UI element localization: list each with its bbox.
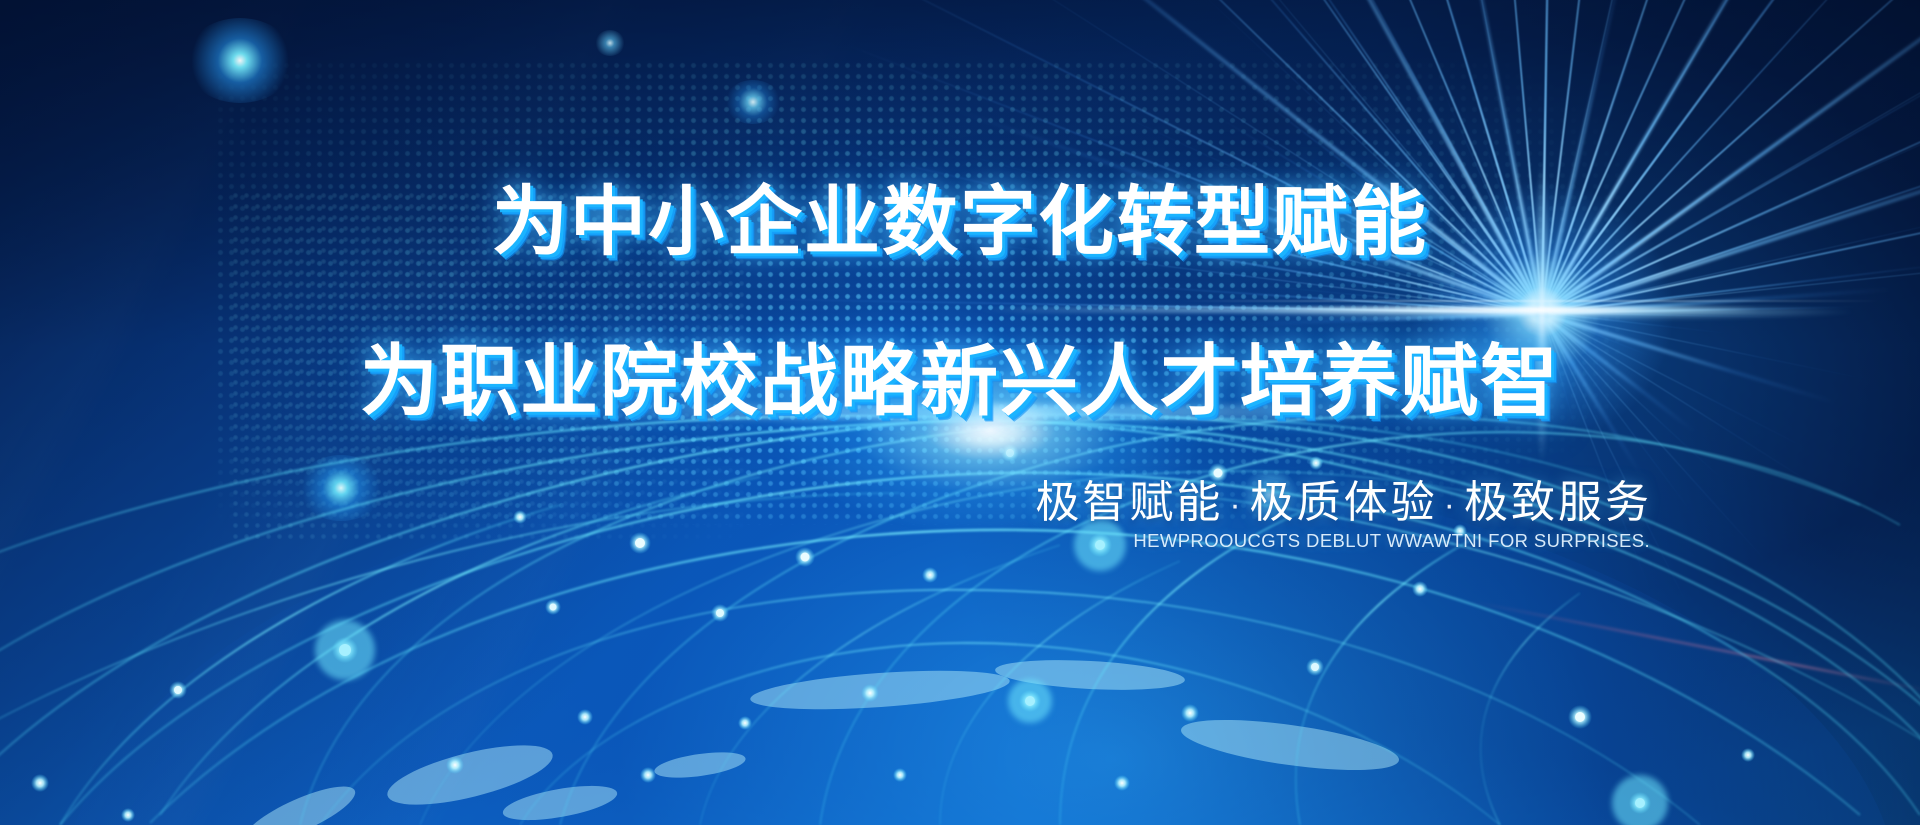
promotional-banner: 为中小企业数字化转型赋能 为职业院校战略新兴人才培养赋智 极智赋能·极质体验·极…: [0, 0, 1920, 825]
headline-line-2: 为职业院校战略新兴人才培养赋智: [0, 342, 1920, 420]
tagline-separator-1: ·: [1223, 486, 1249, 524]
sub-tagline: HEWPROOUCGTS DEBLUT WWAWTNI FOR SURPRISE…: [1133, 530, 1650, 552]
tagline-part-2: 极质体验: [1250, 478, 1438, 527]
tagline: 极智赋能·极质体验·极致服务: [1035, 466, 1652, 530]
banner-content: 为中小企业数字化转型赋能 为职业院校战略新兴人才培养赋智 极智赋能·极质体验·极…: [0, 0, 1920, 825]
headline-line-1: 为中小企业数字化转型赋能: [0, 185, 1920, 261]
tagline-part-1: 极智赋能: [1035, 478, 1223, 527]
tagline-part-3: 极致服务: [1464, 478, 1652, 527]
tagline-separator-2: ·: [1438, 486, 1464, 524]
